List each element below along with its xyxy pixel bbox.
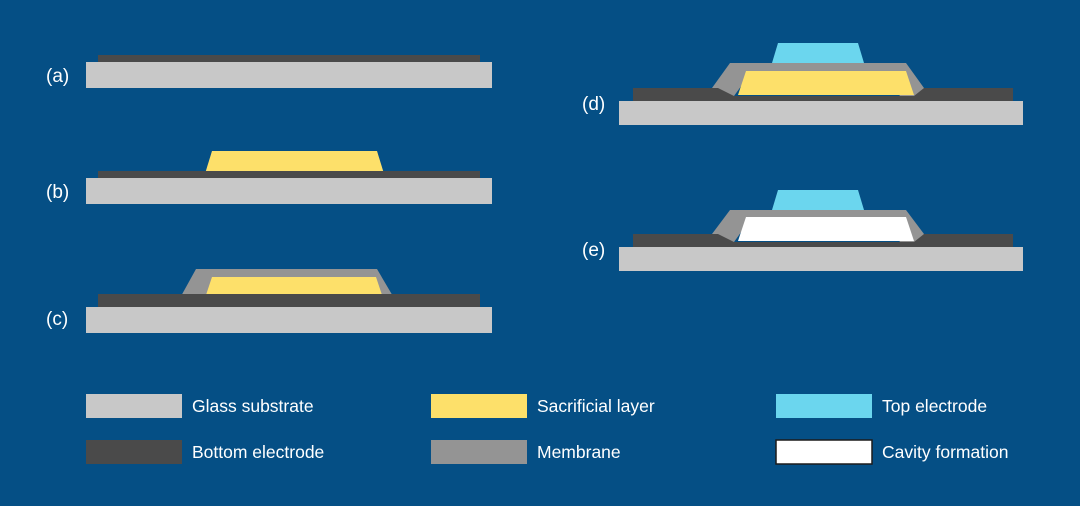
panel-d-top-electrode [772,43,864,63]
legend-label-membrane: Membrane [537,442,621,462]
legend-swatch-glass-substrate [86,394,182,418]
legend-label-top-electrode: Top electrode [882,396,987,416]
panel-c-label: (c) [46,309,68,330]
panel-e-label: (e) [582,240,605,261]
figure-canvas: (a) (b) (c) (d) (e) [0,0,1080,506]
legend-swatch-bottom-electrode [86,440,182,464]
legend-item-sacrificial-layer: Sacrificial layer [431,394,655,418]
panel-b-label: (b) [46,182,69,203]
legend-item-glass-substrate: Glass substrate [86,394,314,418]
panel-a: (a) [46,55,492,88]
legend-label-cavity-formation: Cavity formation [882,442,1008,462]
panel-e-glass-substrate [619,247,1023,271]
legend-swatch-sacrificial-layer [431,394,527,418]
panel-d-glass-substrate [619,101,1023,125]
panel-a-glass-substrate [86,62,492,88]
panel-a-label: (a) [46,66,69,87]
panel-e-cavity [738,217,914,241]
legend-swatch-cavity-formation [776,440,872,464]
legend-item-bottom-electrode: Bottom electrode [86,440,324,464]
process-flow-diagram: (a) (b) (c) (d) (e) [0,0,1080,506]
panel-d-sacrificial-layer [738,71,914,95]
legend-item-cavity-formation: Cavity formation [776,440,1008,464]
panel-d-label: (d) [582,94,605,115]
legend-label-glass-substrate: Glass substrate [192,396,314,416]
legend-label-sacrificial-layer: Sacrificial layer [537,396,655,416]
legend-swatch-top-electrode [776,394,872,418]
panel-c-glass-substrate [86,307,492,333]
panel-b-glass-substrate [86,178,492,204]
panel-e-top-electrode [772,190,864,210]
legend-label-bottom-electrode: Bottom electrode [192,442,324,462]
legend-item-membrane: Membrane [431,440,621,464]
legend-swatch-membrane [431,440,527,464]
legend-item-top-electrode: Top electrode [776,394,987,418]
